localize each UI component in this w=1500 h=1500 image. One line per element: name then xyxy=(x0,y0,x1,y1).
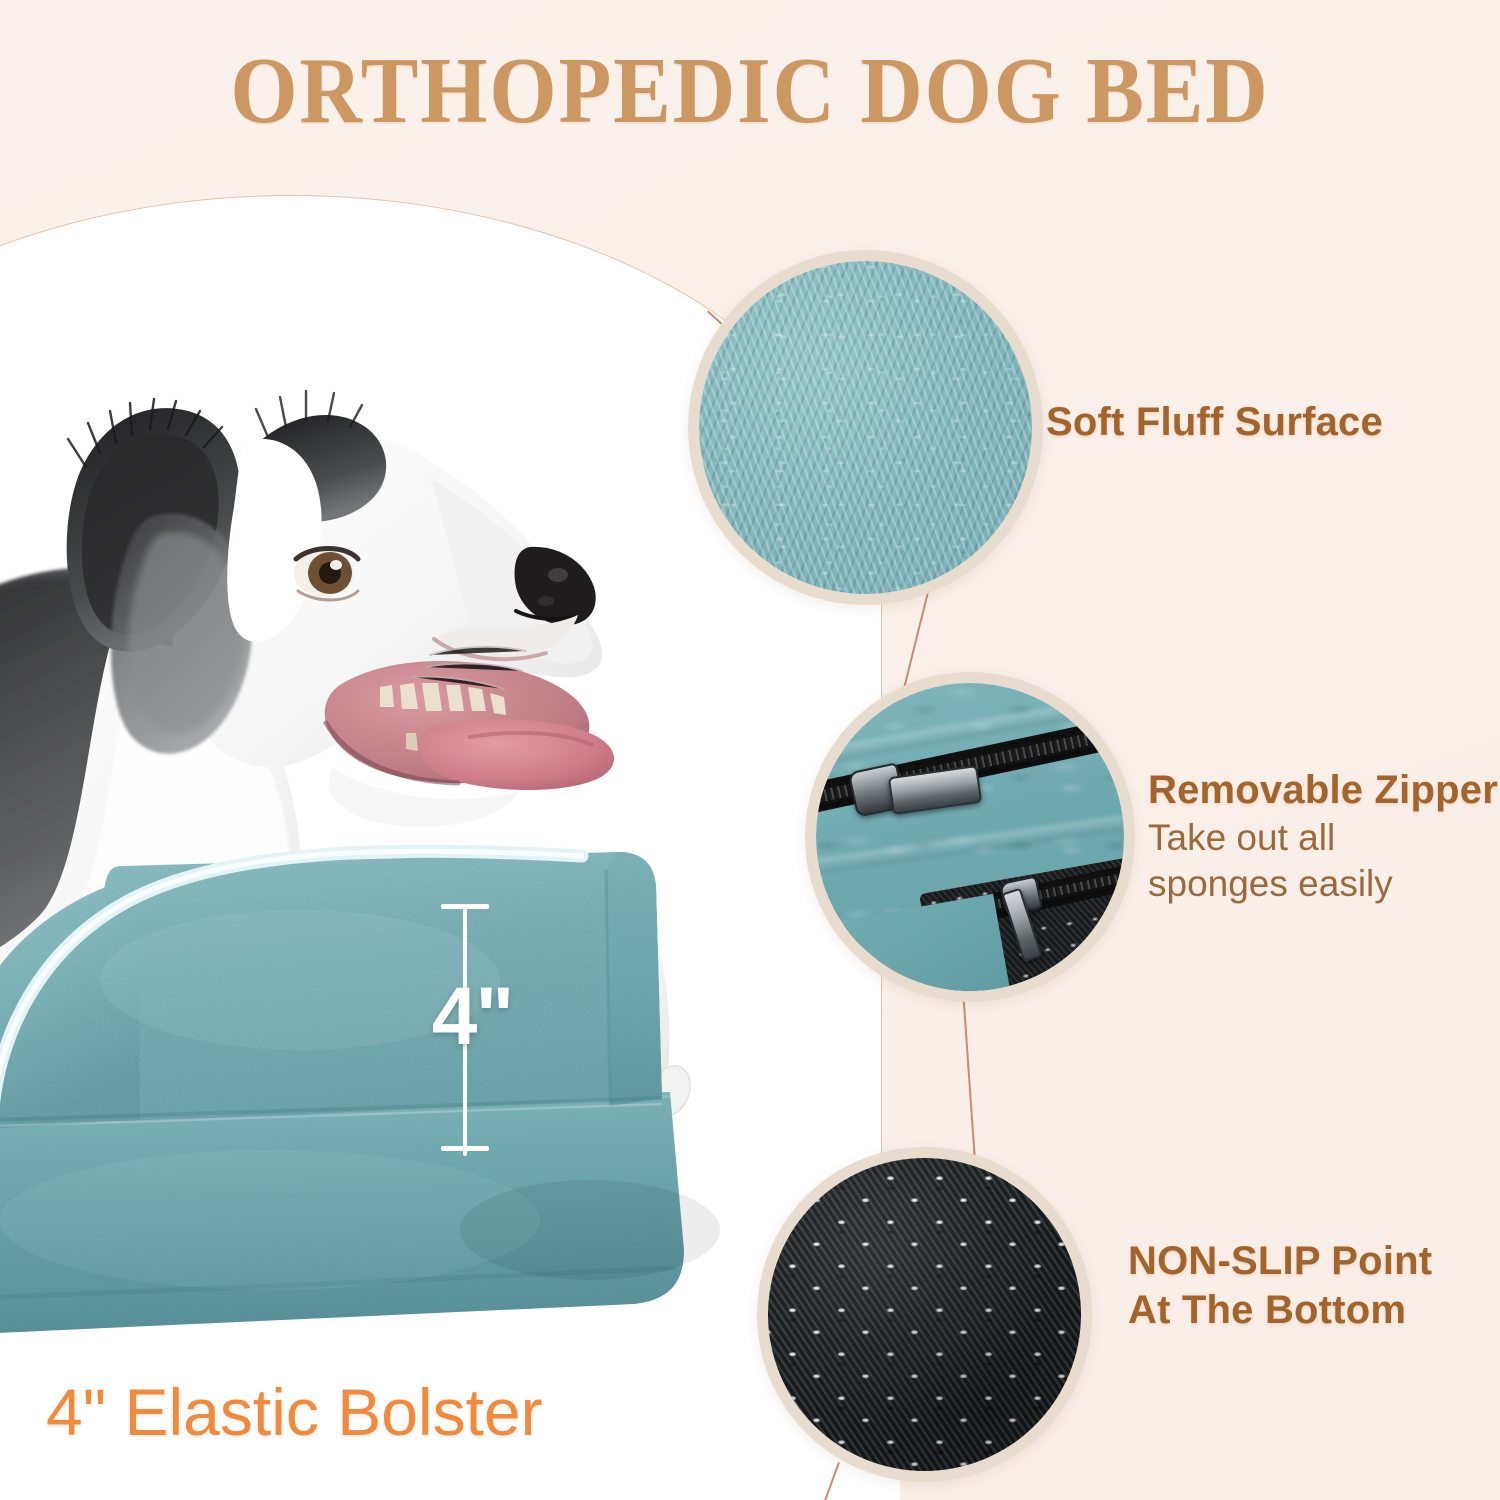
dog-bed xyxy=(0,830,750,1350)
label-heading: Removable Zipper xyxy=(1148,766,1498,815)
label-heading-line2: At The Bottom xyxy=(1128,1286,1432,1335)
label-soft-fluff-surface: Soft Fluff Surface xyxy=(1046,398,1383,447)
bed-illustration xyxy=(0,830,770,1370)
callout-non-slip-bottom[interactable] xyxy=(757,1147,1092,1482)
bolster-height-dimension: 4" xyxy=(435,898,495,1164)
nonslip-dots-icon xyxy=(768,1158,1081,1471)
bolster-caption: 4" Elastic Bolster xyxy=(46,1374,543,1450)
callout-removable-zipper[interactable] xyxy=(805,672,1135,1002)
zipper-closeup-icon xyxy=(816,683,1124,991)
dimension-value: 4" xyxy=(417,976,527,1058)
infographic-stage: ORTHOPEDIC DOG BED xyxy=(0,0,1500,1500)
dimension-cap-bottom xyxy=(441,1146,489,1151)
label-heading: Soft Fluff Surface xyxy=(1046,398,1383,447)
label-non-slip-bottom: NON-SLIP Point At The Bottom xyxy=(1128,1237,1432,1335)
label-removable-zipper: Removable Zipper Take out all sponges ea… xyxy=(1148,766,1498,907)
label-body: Take out all sponges easily xyxy=(1148,815,1478,907)
callout-soft-fluff-surface[interactable] xyxy=(688,250,1043,605)
page-title: ORTHOPEDIC DOG BED xyxy=(60,44,1440,138)
fluff-texture-icon xyxy=(699,261,1032,594)
label-heading-line1: NON-SLIP Point xyxy=(1128,1237,1432,1286)
